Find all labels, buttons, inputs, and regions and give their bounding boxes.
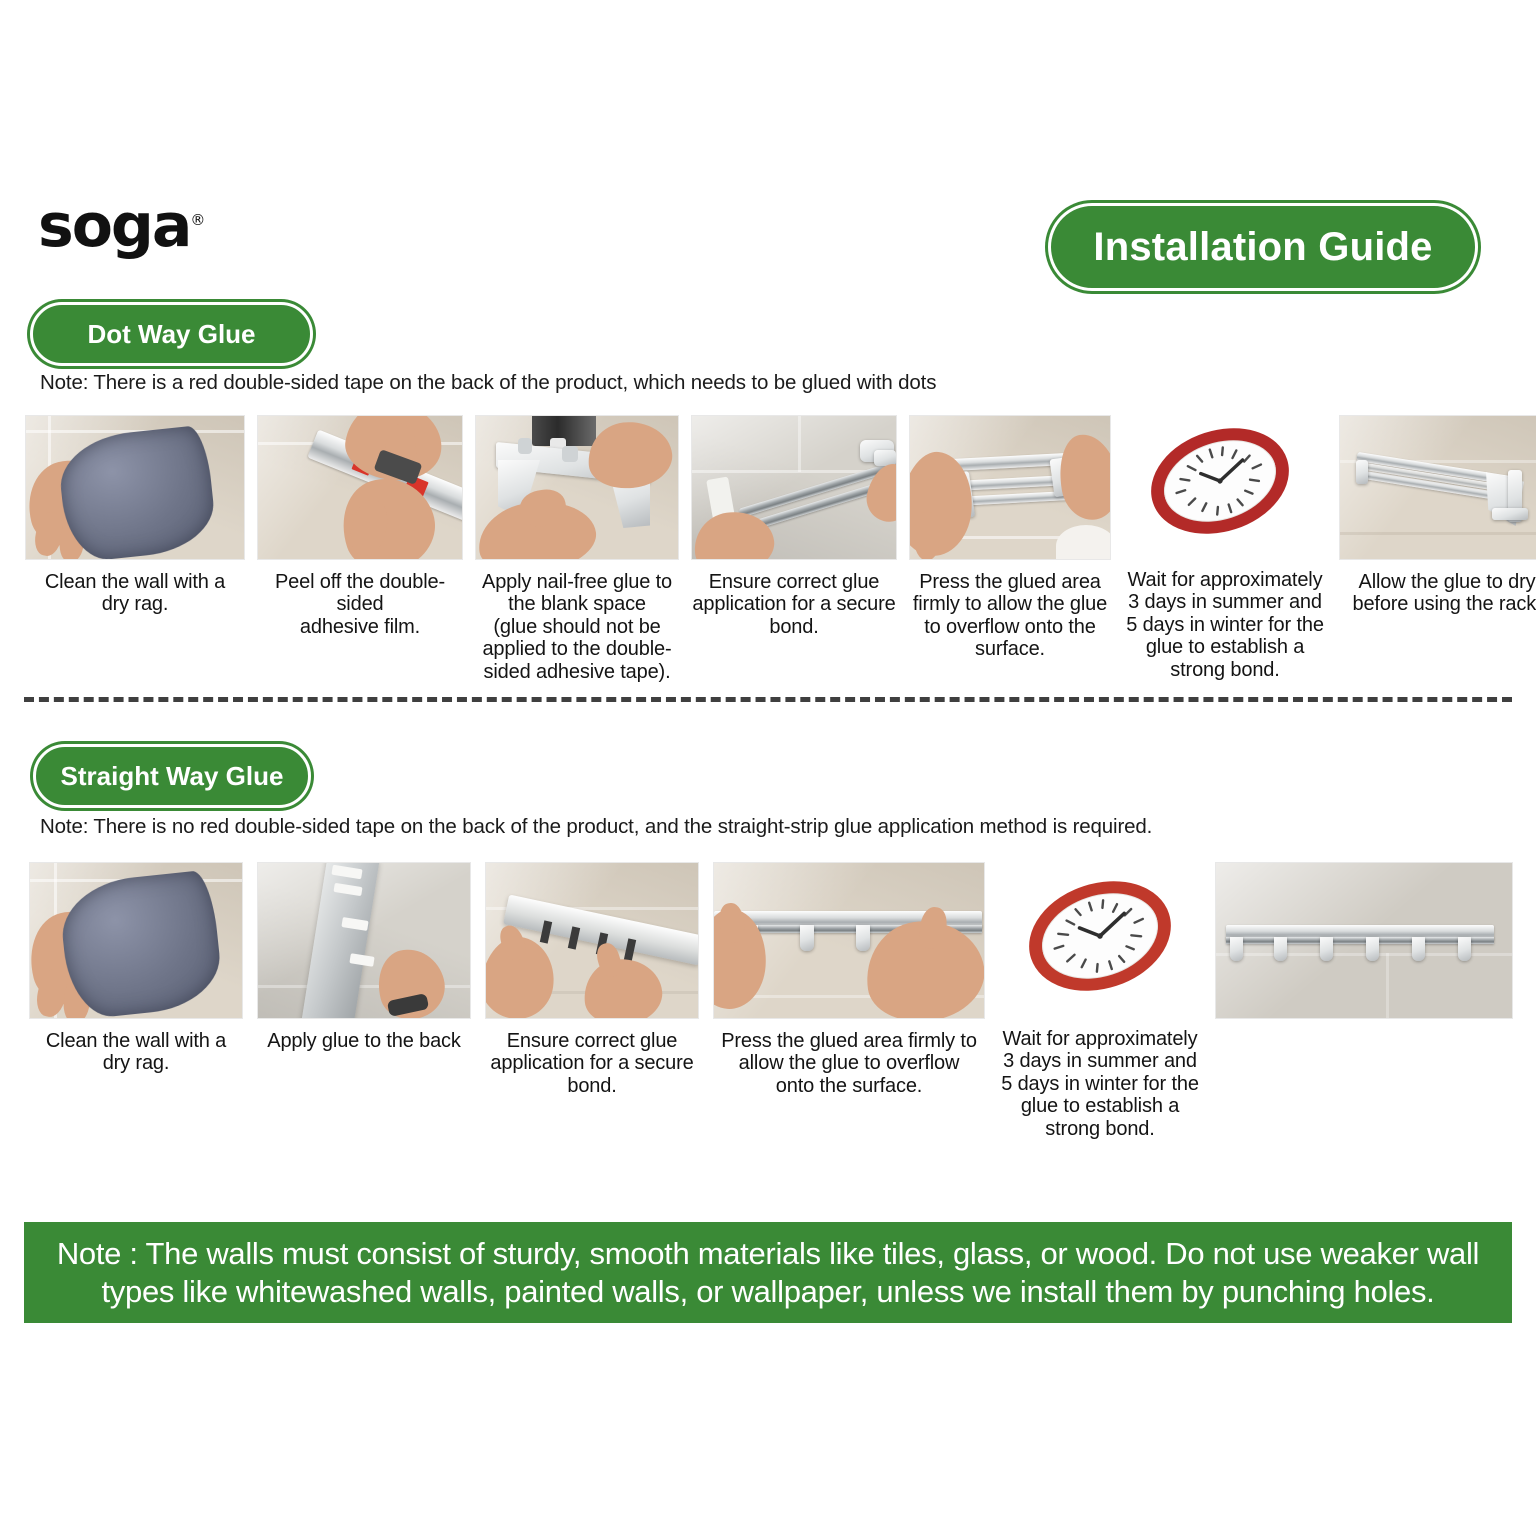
step-caption: Peel off the double-sided adhesive film.: [258, 571, 462, 638]
step-caption: Allow the glue to dry before using the r…: [1352, 571, 1536, 616]
step-dot-4: Ensure correct glue application for a se…: [692, 415, 896, 683]
photo-clean-wall-with-rag: [29, 862, 243, 1019]
step-caption: Press the glued area firmly to allow the…: [721, 1030, 977, 1097]
step-dot-3: Apply nail-free glue to the blank space …: [476, 415, 678, 683]
installation-guide-badge: Installation Guide: [1048, 203, 1478, 291]
step-caption: Clean the wall with a dry rag.: [45, 571, 225, 616]
step-straight-4: Press the glued area firmly to allow the…: [714, 862, 984, 1140]
photo-apply-nail-free-glue: [475, 415, 679, 560]
brand-logo: soga®: [38, 196, 203, 256]
step-straight-1: Clean the wall with a dry rag.: [30, 862, 242, 1140]
trademark-symbol: ®: [190, 211, 203, 229]
clock-icon: [1124, 415, 1326, 558]
step-caption: Wait for approximately 3 days in summer …: [1001, 1028, 1199, 1140]
step-straight-2: Apply glue to the back: [258, 862, 470, 1140]
section-badge-straight-way-glue: Straight Way Glue: [33, 744, 311, 808]
photo-ensure-correct-glue-strip: [485, 862, 699, 1019]
step-dot-6: Wait for approximately 3 days in summer …: [1124, 415, 1326, 683]
clock-icon: [1000, 862, 1200, 1017]
section-divider: [24, 697, 1512, 702]
section-badge-dot-way-glue: Dot Way Glue: [30, 302, 313, 366]
step-straight-3: Ensure correct glue application for a se…: [486, 862, 698, 1140]
step-caption: Ensure correct glue application for a se…: [490, 1030, 693, 1097]
installation-guide-title: Installation Guide: [1093, 225, 1432, 270]
photo-apply-glue-to-back: [257, 862, 471, 1019]
step-dot-5: Press the glued area firmly to allow the…: [910, 415, 1110, 683]
illustration-clock-waiting-time: [1124, 415, 1326, 558]
step-caption: Clean the wall with a dry rag.: [46, 1030, 226, 1075]
step-straight-6: [1216, 862, 1512, 1140]
section-badge-label-dot: Dot Way Glue: [87, 319, 255, 350]
step-caption: Wait for approximately 3 days in summer …: [1126, 569, 1324, 681]
installation-guide-page: soga® Installation Guide Dot Way Glue No…: [0, 0, 1536, 1536]
illustration-clock-waiting-time: [1000, 862, 1200, 1017]
photo-clean-wall-with-rag: [25, 415, 245, 560]
photo-finished-hook-rail: [1215, 862, 1513, 1019]
step-straight-5: Wait for approximately 3 days in summer …: [1000, 862, 1200, 1140]
step-caption: Apply glue to the back: [267, 1030, 461, 1052]
step-caption: Apply nail-free glue to the blank space …: [482, 571, 672, 683]
brand-logo-text: soga: [38, 191, 190, 261]
step-dot-2: Peel off the double-sided adhesive film.: [258, 415, 462, 683]
photo-press-glued-area: [909, 415, 1111, 560]
photo-press-hook-rail: [713, 862, 985, 1019]
section-note-dot-way-glue: Note: There is a red double-sided tape o…: [40, 371, 936, 395]
step-caption: Press the glued area firmly to allow the…: [913, 571, 1107, 661]
photo-ensure-correct-glue: [691, 415, 897, 560]
steps-row-straight-way-glue: Clean the wall with a dry rag. Apply glu…: [30, 862, 1330, 1140]
step-caption: Ensure correct glue application for a se…: [692, 571, 895, 638]
section-badge-label-straight: Straight Way Glue: [61, 761, 284, 792]
step-dot-7: Allow the glue to dry before using the r…: [1340, 415, 1536, 683]
section-note-straight-way-glue: Note: There is no red double-sided tape …: [40, 815, 1152, 839]
footer-note-text: Note : The walls must consist of sturdy,…: [46, 1235, 1490, 1310]
footer-note-banner: Note : The walls must consist of sturdy,…: [24, 1222, 1512, 1323]
photo-peel-adhesive-film: [257, 415, 463, 560]
photo-finished-towel-rack: [1339, 415, 1536, 560]
steps-row-dot-way-glue: Clean the wall with a dry rag. Peel off …: [26, 415, 1516, 683]
step-dot-1: Clean the wall with a dry rag.: [26, 415, 244, 683]
